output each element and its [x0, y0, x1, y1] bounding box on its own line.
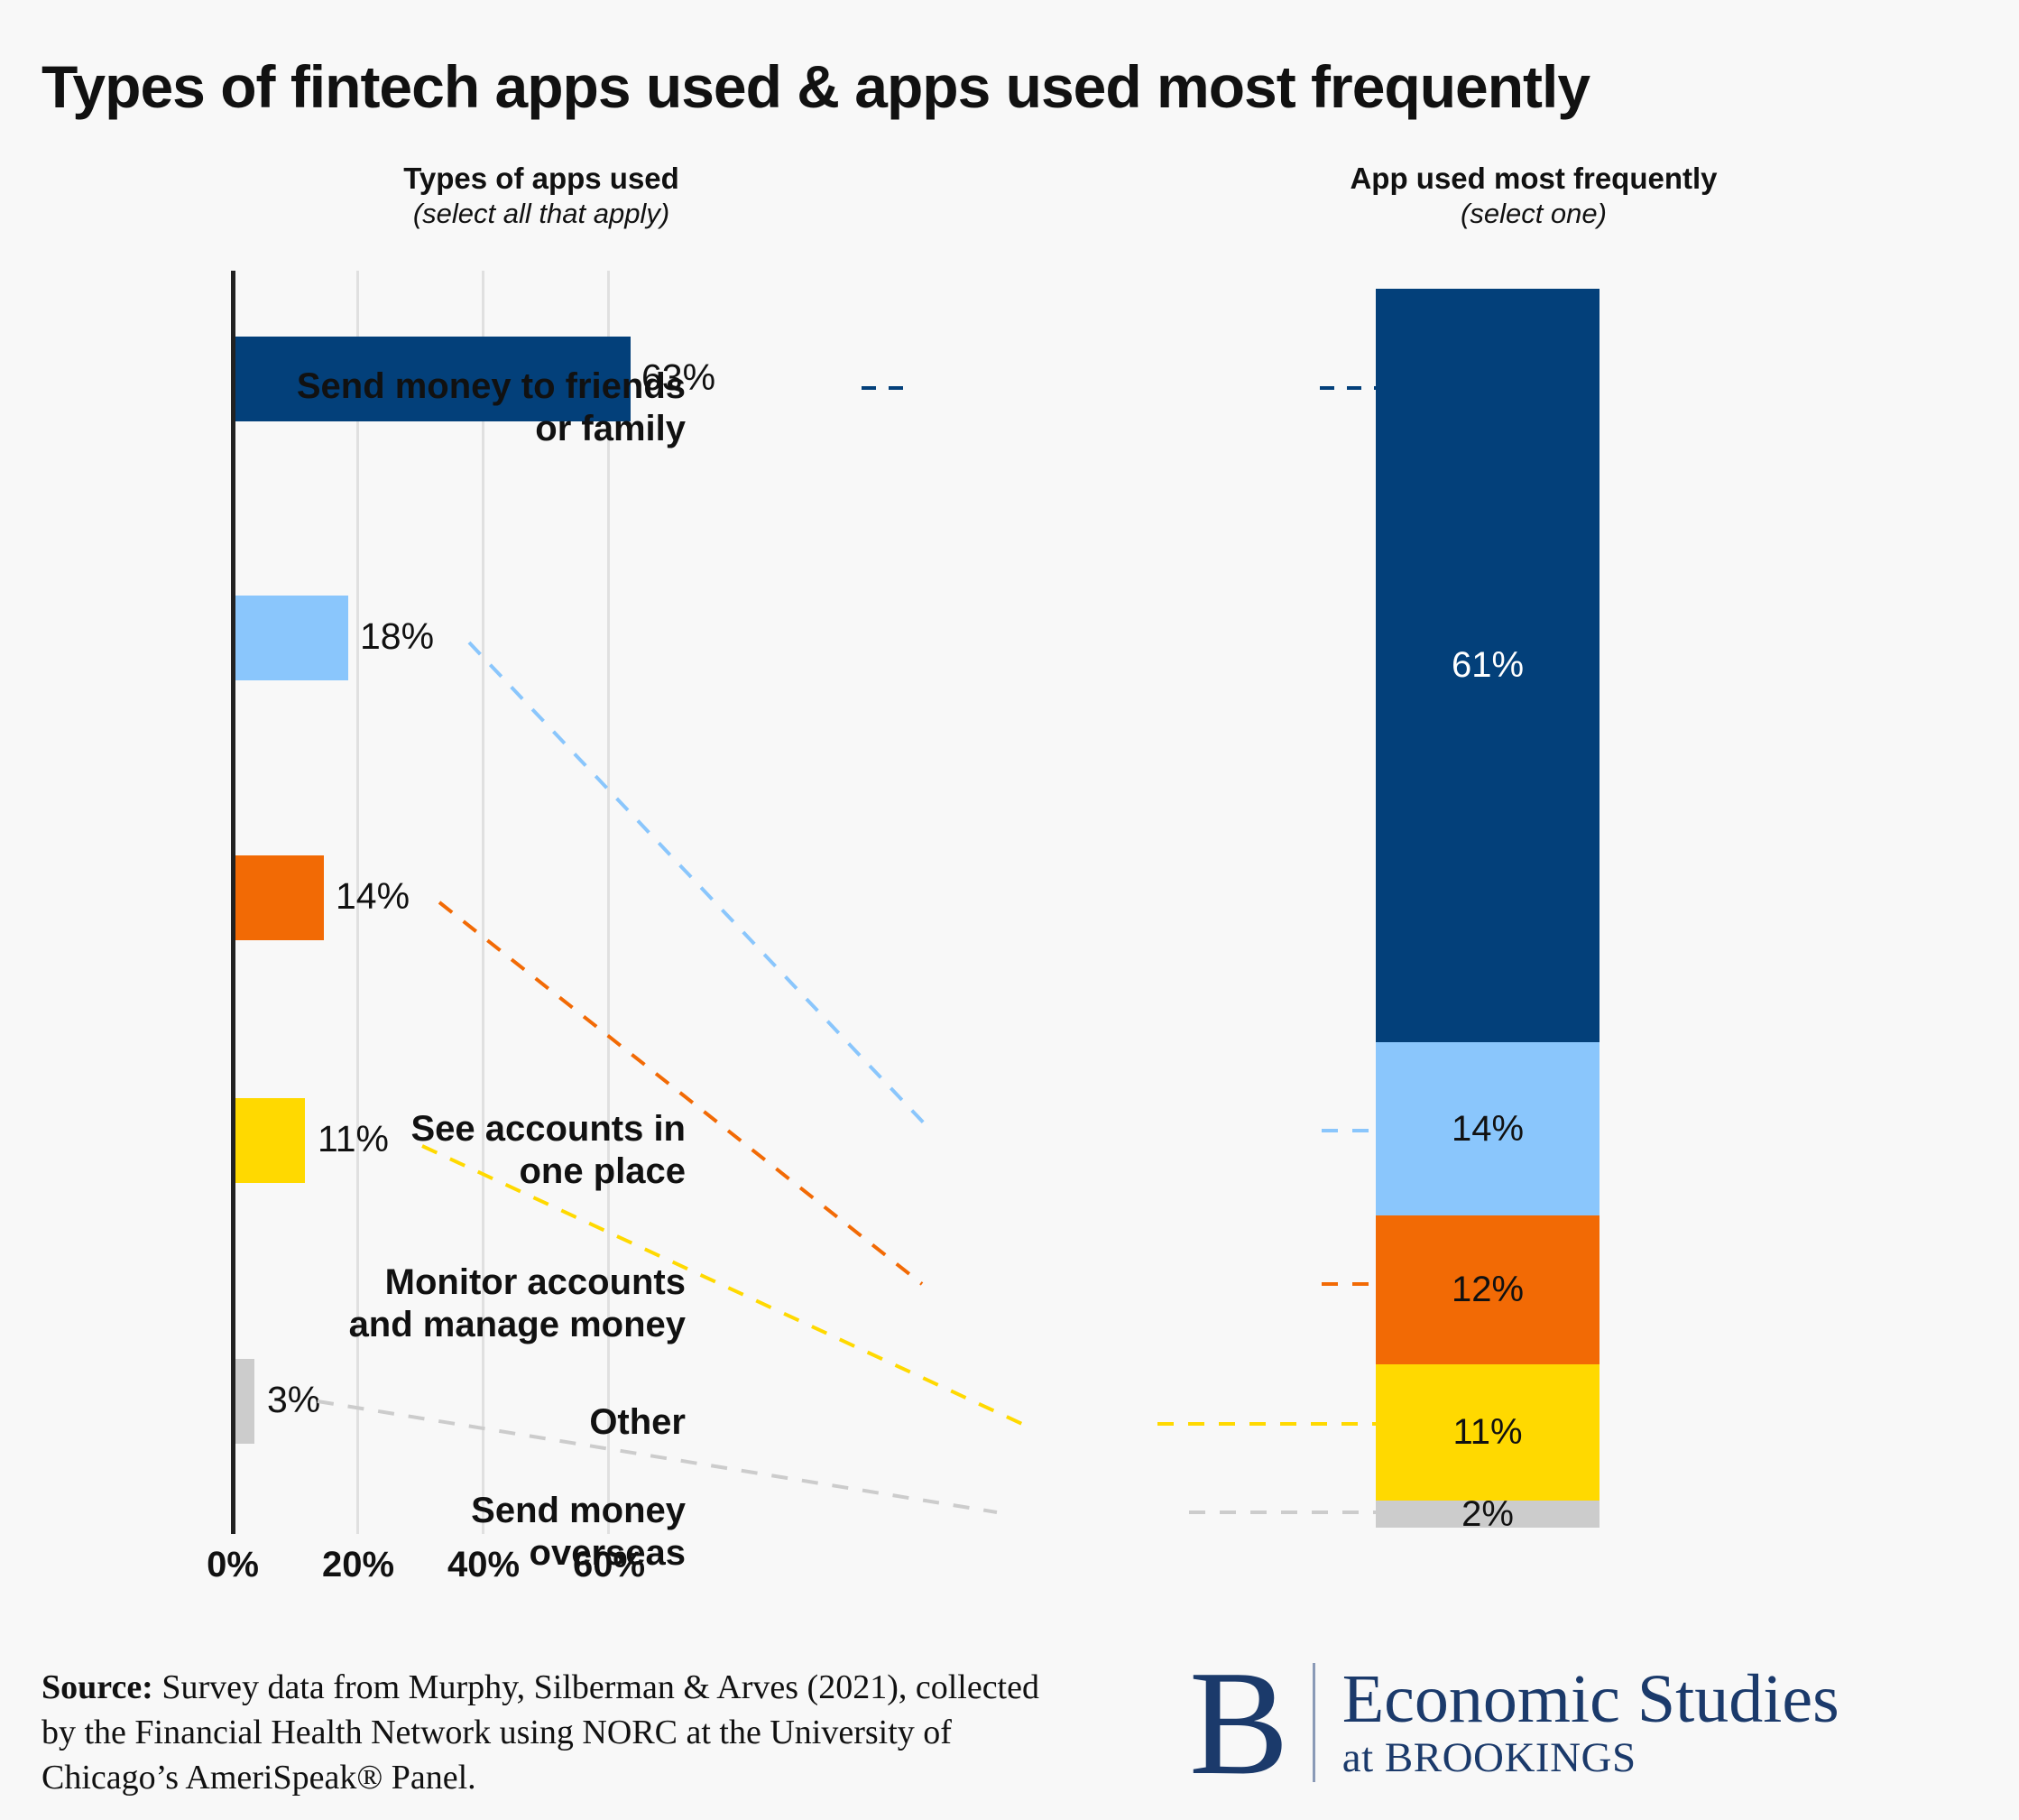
category-line: See accounts in: [410, 1108, 686, 1150]
stack-segment-monitor-accounts: 12%: [1376, 1215, 1600, 1364]
app-used-most-frequently-stacked-bar: 61% 14% 12% 11% 2%: [1376, 289, 1600, 1528]
category-label-other: Other: [589, 1401, 686, 1444]
category-line: and manage money: [349, 1304, 686, 1346]
right-panel-title: App used most frequently: [1037, 161, 2019, 197]
stack-segment-see-accounts: 14%: [1376, 1042, 1600, 1215]
logo-wordmark: Economic Studies at BROOKINGS: [1342, 1664, 1839, 1782]
stack-segment-send-money-friends: 61%: [1376, 289, 1600, 1042]
left-panel-header: Types of apps used (select all that appl…: [226, 161, 857, 231]
bar-value-2: 14%: [336, 875, 410, 918]
category-label-see-accounts: See accounts in one place: [410, 1108, 686, 1193]
category-line: one place: [410, 1150, 686, 1193]
category-line: Monitor accounts: [349, 1261, 686, 1304]
category-line: overseas: [471, 1532, 686, 1575]
category-label-send-money-overseas: Send money overseas: [471, 1490, 686, 1575]
xtick-0: 0%: [207, 1545, 259, 1585]
logo-divider: [1313, 1663, 1315, 1782]
left-panel-subtitle: (select all that apply): [226, 197, 857, 231]
stack-value-2: 12%: [1452, 1270, 1524, 1310]
source-note: Source: Survey data from Murphy, Silberm…: [41, 1665, 1052, 1800]
xtick-20: 20%: [322, 1545, 394, 1585]
brookings-b-mark: B: [1189, 1658, 1313, 1788]
stack-value-4: 2%: [1461, 1494, 1514, 1535]
right-panel-header: App used most frequently (select one): [1037, 161, 2019, 231]
source-label: Source:: [41, 1668, 153, 1706]
stack-value-1: 14%: [1452, 1109, 1524, 1150]
stack-value-0: 61%: [1452, 645, 1524, 686]
right-panel-subtitle: (select one): [1037, 197, 2019, 231]
logo-line-at-brookings: at BROOKINGS: [1342, 1735, 1839, 1782]
category-label-monitor-accounts: Monitor accounts and manage money: [349, 1261, 686, 1346]
category-line: Send money to friends: [297, 365, 686, 408]
brookings-logo: B Economic Studies at BROOKINGS: [1189, 1658, 1839, 1788]
page-title: Types of fintech apps used & apps used m…: [41, 52, 1590, 121]
bar-value-3: 11%: [318, 1118, 389, 1160]
stack-value-3: 11%: [1452, 1412, 1522, 1453]
stack-segment-send-money-overseas: 2%: [1376, 1501, 1600, 1528]
left-panel-title: Types of apps used: [226, 161, 857, 197]
category-label-send-money-friends: Send money to friends or family: [297, 365, 686, 450]
bar-see-accounts: [235, 596, 348, 680]
bar-value-4: 3%: [267, 1379, 320, 1421]
category-line: Other: [589, 1401, 686, 1444]
bar-value-1: 18%: [360, 615, 434, 658]
bar-other: [235, 1098, 305, 1183]
category-line: or family: [297, 408, 686, 450]
category-line: Send money: [471, 1490, 686, 1532]
bar-send-money-overseas: [235, 1359, 254, 1444]
source-text: Survey data from Murphy, Silberman & Arv…: [41, 1668, 1039, 1797]
bar-monitor-accounts: [235, 855, 324, 940]
logo-line-economic-studies: Economic Studies: [1342, 1664, 1839, 1735]
stack-segment-other: 11%: [1376, 1364, 1600, 1501]
